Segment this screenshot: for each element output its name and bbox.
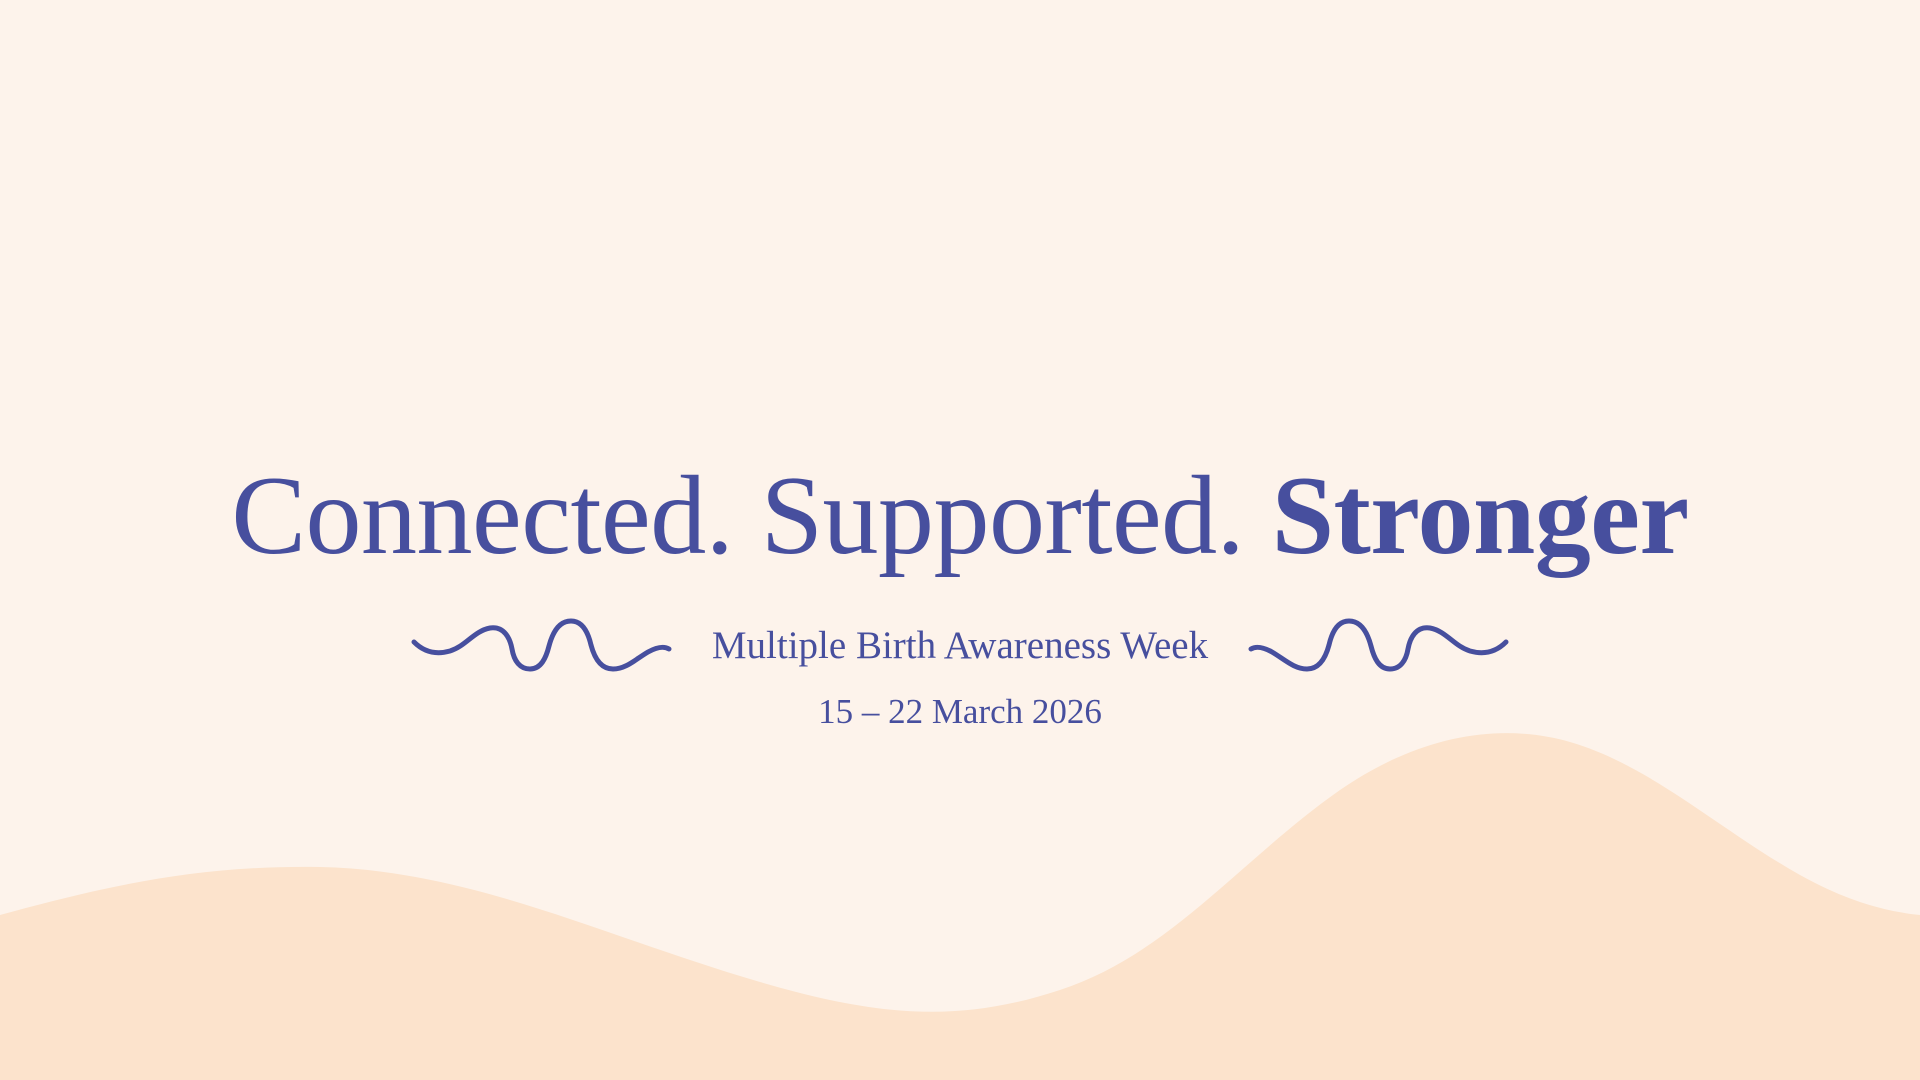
event-date-range: 15 – 22 March 2026	[0, 694, 1920, 729]
wavy-line-ornament-right	[1248, 615, 1510, 675]
wavy-line-ornament-left	[410, 615, 672, 675]
headline-emphasis-part: Stronger	[1272, 454, 1689, 578]
subtitle-text: Multiple Birth Awareness Week	[712, 626, 1208, 665]
banner-content: Connected. Supported. Stronger Multiple …	[0, 0, 1920, 1080]
subtitle-row: Multiple Birth Awareness Week	[0, 612, 1920, 678]
subtitle-block: Multiple Birth Awareness Week 15 – 22 Ma…	[0, 612, 1920, 729]
headline-regular-part: Connected. Supported.	[231, 454, 1271, 578]
page-title: Connected. Supported. Stronger	[0, 460, 1920, 572]
event-banner: Connected. Supported. Stronger Multiple …	[0, 0, 1920, 1080]
